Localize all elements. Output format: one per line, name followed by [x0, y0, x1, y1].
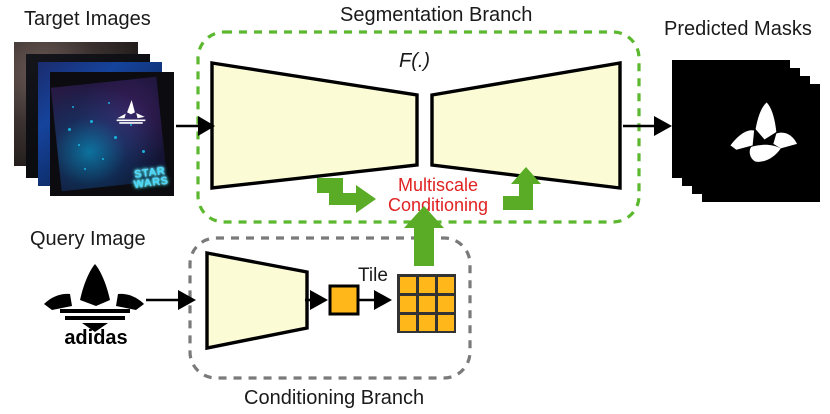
- tiled-conditioning-grid: [397, 274, 456, 333]
- arrow-tile: [359, 290, 392, 310]
- encoder-multiscale-arrow: [317, 178, 376, 213]
- arrow-target-to-encoder: [176, 116, 215, 136]
- conditioning-vector-cell: [330, 286, 358, 314]
- encoder-node: [212, 63, 417, 188]
- arrow-decoder-to-masks: [623, 116, 672, 136]
- diagram-vector-layer: [0, 0, 830, 414]
- conditioning-injection-arrow: [404, 206, 444, 266]
- conditioning-generator-node: [207, 253, 307, 348]
- architecture-diagram: Target Images Segmentation Branch Predic…: [0, 0, 830, 414]
